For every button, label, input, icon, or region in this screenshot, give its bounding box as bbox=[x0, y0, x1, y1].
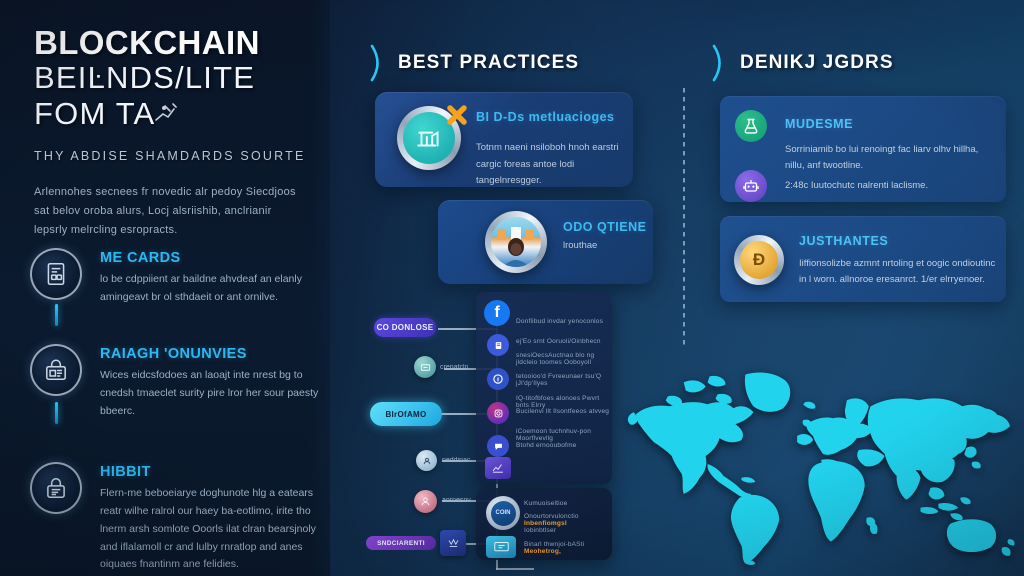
tree-branch-7 bbox=[496, 568, 534, 570]
person-photo-badge-icon bbox=[485, 211, 547, 273]
node-crest-icon[interactable] bbox=[440, 530, 466, 556]
right-card-1-title: MUDESME bbox=[785, 117, 853, 131]
best-practice-card-2-text: lrouthae bbox=[563, 238, 658, 255]
best-practices-title: BEST PRACTICES bbox=[398, 52, 579, 74]
title-block: BLOCKCHAIN BEIĿNDS/LITE FOM TA THY ABDIS… bbox=[34, 26, 306, 241]
bottom-panel-line-2-text: Onourtorvulonctio bbox=[524, 513, 579, 520]
timeline-item-3[interactable]: HIBBIT Flern-me beboeiarye doghunote hlg… bbox=[30, 462, 330, 574]
social-feed-line-3: snesiOecsAuctnao blo ng jldcleio toomes … bbox=[516, 352, 610, 366]
right-card-2-text: Iiffionsolizbe azmnt nrtoling et oogic o… bbox=[799, 256, 1004, 288]
right-card-1-text-primary: Sorriniamib bo lui renoingt fac liarv ol… bbox=[785, 142, 997, 174]
bottom-panel-line-4-highlight: Meohetrog, bbox=[524, 548, 561, 555]
node-label-3: aornesnv bbox=[442, 497, 471, 504]
tree-pill-3[interactable]: SNDCIARENTI bbox=[366, 536, 436, 550]
coin-circle-icon: COIN bbox=[486, 496, 520, 530]
coin-glyph: Ɖ bbox=[753, 250, 765, 270]
page-title-line3: FOM TA bbox=[34, 96, 306, 133]
purple-chart-icon[interactable] bbox=[485, 457, 511, 479]
timeline-item-3-body: HIBBIT Flern-me beboeiarye doghunote hlg… bbox=[100, 462, 330, 574]
right-section-header: DENIKJ JGDRS bbox=[712, 44, 894, 82]
arc-bracket-icon-right bbox=[712, 44, 726, 82]
chat-icon[interactable] bbox=[487, 435, 509, 457]
page-title-line3-text: FOM TA bbox=[34, 96, 155, 131]
social-feed-line-1: Donflibud invdar yenoconlos bbox=[516, 318, 608, 325]
industry-glyph-icon bbox=[414, 123, 444, 153]
best-practice-card-1-text: Totnm naeni nsiloboh hnoh earstri cargic… bbox=[476, 140, 632, 190]
social-feed-line-4: tetooioo'd Fvreeunaer tsu'Q jJl'dp'Ilyes bbox=[516, 373, 612, 387]
blog-icon[interactable] bbox=[487, 334, 509, 356]
timeline-item-2-text: Wices eidcsfodoes an laoajt inte nrest b… bbox=[100, 367, 330, 421]
page-title-line2: BEIĿNDS/LITE bbox=[34, 60, 306, 97]
green-flask-icon bbox=[735, 110, 767, 142]
timeline-item-1-body: ME CARDS lo be cdppiient ar baildne ahvd… bbox=[100, 248, 330, 322]
right-card-1-text-secondary: 2:48c Iuutochutc nalrenti laclisme. bbox=[785, 178, 997, 194]
timeline-item-1-text: lo be cdppiient ar baildne ahvdeaf an el… bbox=[100, 271, 330, 307]
world-map bbox=[622, 352, 1020, 572]
tree-pill-2[interactable]: BIrOfAMO bbox=[370, 402, 442, 426]
info-icon[interactable] bbox=[487, 368, 509, 390]
best-practice-card-2-title: ODO QTIENE bbox=[563, 220, 658, 234]
social-feed-line-7: iCoemoon tuchnhuv-pon Moorflvevllg bbox=[516, 428, 612, 442]
camera-icon[interactable] bbox=[487, 402, 509, 424]
timeline-item-2-heading: RAIAGH 'ONUNVIES bbox=[100, 346, 330, 362]
page-subtitle: THY ABDISE SHAMDARDS SOURTE bbox=[34, 149, 306, 163]
runner-glyph-icon bbox=[152, 102, 182, 124]
world-map-svg bbox=[622, 352, 1020, 572]
purple-robot-icon bbox=[735, 170, 767, 202]
timeline-item-2-body: RAIAGH 'ONUNVIES Wices eidcsfodoes an la… bbox=[100, 344, 330, 440]
node-label-1: crenatcln bbox=[440, 364, 468, 371]
gold-coin-badge-icon: Ɖ bbox=[734, 235, 784, 285]
social-feed-line-2: ej'Eo srnt Ooruoli/Oinbhecn bbox=[516, 338, 610, 345]
social-feed-line-5: IQ-titofbfoes alonoes Pwvrt bnts Elrry bbox=[516, 395, 612, 409]
best-practice-card-1-title: BI D-Ds metluacioges bbox=[476, 110, 631, 124]
screen-icon[interactable] bbox=[486, 536, 516, 558]
orange-x-icon bbox=[445, 103, 469, 127]
secure-bag-icon bbox=[30, 344, 82, 396]
timeline-list: ME CARDS lo be cdppiient ar baildne ahvd… bbox=[30, 248, 330, 576]
timeline-connector-2 bbox=[55, 402, 58, 424]
column-divider bbox=[683, 88, 685, 346]
bottom-panel-line-2-highlight: Inbenfiomgsl bbox=[524, 520, 567, 527]
bottom-panel-line-4: Binarl thwnjoi-bASti Meohetrog, bbox=[524, 541, 614, 555]
page-title-line1: BLOCKCHAIN bbox=[34, 26, 306, 60]
timeline-connector-1 bbox=[55, 304, 58, 326]
person-glyph-icon bbox=[491, 217, 541, 267]
timeline-item-3-text: Flern-me beboeiarye doghunote hlg a eate… bbox=[100, 485, 330, 574]
node-teal-icon[interactable] bbox=[414, 356, 436, 378]
timeline-item-1[interactable]: ME CARDS lo be cdppiient ar baildne ahvd… bbox=[30, 248, 330, 322]
social-feed-line-6: Bucilenvi llt Ilsontfeeos atvveg bbox=[516, 408, 612, 415]
bottom-panel-line-3: Iobinbtlser bbox=[524, 527, 612, 534]
facebook-icon[interactable]: f bbox=[484, 300, 510, 326]
tree-pill-1[interactable]: CO DONLOSE bbox=[374, 318, 436, 337]
best-practices-header: BEST PRACTICES bbox=[370, 44, 579, 82]
bottom-panel-line-4-text: Binarl thwnjoi-bASti bbox=[524, 541, 584, 548]
bottom-panel-line-1: Kumuoiseltioe bbox=[524, 500, 612, 507]
node-label-2: neddinac bbox=[442, 457, 470, 464]
infographic-canvas: BLOCKCHAIN BEIĿNDS/LITE FOM TA THY ABDIS… bbox=[0, 0, 1024, 576]
right-section-title: DENIKJ JGDRS bbox=[740, 52, 894, 74]
document-chain-icon bbox=[30, 248, 82, 300]
node-pink-icon[interactable] bbox=[414, 490, 437, 513]
node-lightblue-icon[interactable] bbox=[416, 450, 437, 471]
timeline-item-1-heading: ME CARDS bbox=[100, 250, 330, 266]
timeline-item-3-heading: HIBBIT bbox=[100, 464, 330, 480]
arc-bracket-icon bbox=[370, 44, 384, 82]
page-lead-paragraph: Arlennohes secnees fr novedic alr pedoy … bbox=[34, 183, 306, 241]
padlock-icon bbox=[30, 462, 82, 514]
right-card-2-title: JUSTHANTES bbox=[799, 234, 888, 248]
social-feed-line-8: Btohd ernooubofme bbox=[516, 442, 612, 449]
timeline-item-2[interactable]: RAIAGH 'ONUNVIES Wices eidcsfodoes an la… bbox=[30, 344, 330, 440]
bottom-panel-line-2: Onourtorvulonctio Inbenfiomgsl bbox=[524, 513, 614, 527]
